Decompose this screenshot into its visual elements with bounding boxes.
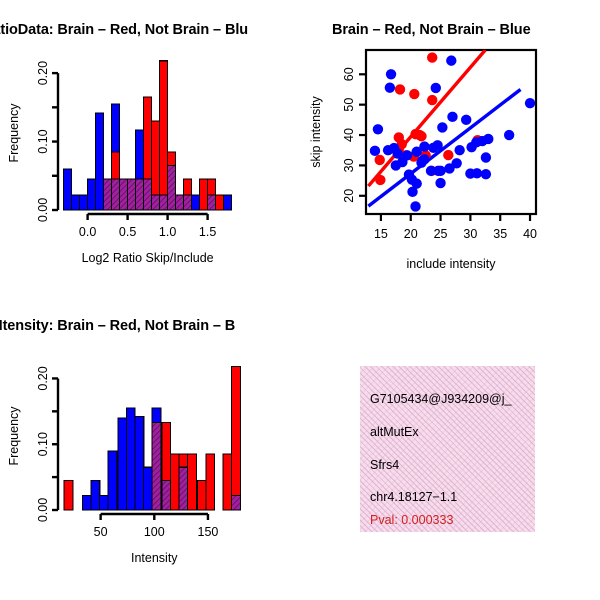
hist-bar-brain — [160, 61, 168, 210]
hist-bar-not-brain — [108, 451, 117, 510]
hist-bar-overlap — [120, 179, 128, 210]
scatter-point-not-brain — [432, 140, 442, 150]
y-axis-label: Frequency — [7, 103, 21, 163]
scatter-point-brain — [395, 84, 405, 94]
hist-bar-not-brain — [80, 195, 88, 210]
hist-bar-not-brain — [135, 417, 144, 510]
y-tick-label: 0.20 — [36, 61, 50, 85]
scatter-point-not-brain — [412, 147, 422, 157]
panel-hist-ratio: RatioData: Brain – Red, Not Brain – Blu … — [0, 0, 300, 300]
y-axis-label: skip intensity — [309, 95, 323, 167]
scatter-point-not-brain — [481, 152, 491, 162]
scatter-point-brain — [414, 130, 424, 140]
hist-bar-not-brain — [88, 179, 96, 210]
hist-bar-overlap — [176, 195, 184, 210]
info-line-pvalue: Pval: 0.000333 — [370, 513, 453, 527]
scatter-content — [368, 50, 535, 212]
hist-bar-overlap — [112, 179, 120, 210]
scatter-point-not-brain — [385, 82, 395, 92]
hist-bar-overlap — [160, 195, 168, 210]
hist-bars-group — [64, 367, 240, 510]
scatter-point-not-brain — [446, 55, 456, 65]
scatter-point-not-brain — [373, 124, 383, 134]
scatter-point-brain — [375, 155, 385, 165]
x-tick-label: 0.5 — [119, 225, 136, 239]
x-tick-label: 150 — [198, 525, 219, 539]
scatter-point-not-brain — [451, 158, 461, 168]
y-tick-label: 20 — [342, 189, 356, 203]
scatter-point-not-brain — [461, 115, 471, 125]
scatter-point-not-brain — [472, 168, 482, 178]
hist-bar-brain — [197, 480, 206, 510]
x-tick-label: 20 — [404, 227, 418, 241]
hist-bar-not-brain — [96, 113, 104, 210]
scatter-point-not-brain — [386, 69, 396, 79]
hist-bar-overlap — [152, 195, 160, 210]
hist-bar-overlap — [144, 179, 152, 210]
hist-bar-brain — [232, 367, 241, 510]
x-axis-label: Log2 Ratio Skip/Include — [82, 251, 214, 265]
hist-bar-not-brain — [126, 408, 135, 510]
y-tick-label: 0.00 — [36, 198, 50, 222]
scatter-point-not-brain — [370, 146, 380, 156]
x-tick-label: 15 — [374, 227, 388, 241]
hist-bar-brain — [216, 195, 224, 210]
hist-bars-group — [64, 61, 232, 210]
y-tick-label: 0.10 — [36, 432, 50, 456]
scatter-point-not-brain — [391, 160, 401, 170]
hist-bar-not-brain — [100, 496, 109, 510]
scatter-point-brain — [427, 95, 437, 105]
hist-bar-not-brain — [192, 195, 200, 210]
hist-bar-brain — [223, 454, 232, 510]
info-line-event-type: altMutEx — [370, 425, 419, 439]
x-tick-label: 0.0 — [79, 225, 96, 239]
x-tick-label: 30 — [463, 227, 477, 241]
hist-bar-overlap — [179, 467, 188, 510]
info-line-id: G7105434@J934209@j_ — [370, 392, 511, 406]
scatter-point-brain — [409, 89, 419, 99]
scatter-point-not-brain — [407, 187, 417, 197]
panel-scatter: Brain – Red, Not Brain – Blue 2030405060… — [300, 0, 600, 300]
x-tick-label: 35 — [493, 227, 507, 241]
hist-bar-not-brain — [224, 195, 232, 210]
hist-bar-not-brain — [118, 418, 127, 510]
y-tick-label: 40 — [342, 128, 356, 142]
hist-bar-not-brain — [72, 195, 80, 210]
x-tick-label: 50 — [94, 525, 108, 539]
y-tick-label: 0.20 — [36, 366, 50, 390]
info-line-locus: chr4.18127−1.1 — [370, 490, 457, 504]
hist-bar-overlap — [162, 480, 171, 510]
x-axis-label: include intensity — [407, 257, 497, 271]
hist-bar-not-brain — [144, 467, 153, 510]
x-tick-label: 1.0 — [159, 225, 176, 239]
x-tick-label: 100 — [144, 525, 165, 539]
scatter-point-not-brain — [437, 122, 447, 132]
scatter-point-not-brain — [435, 166, 445, 176]
hist-intensity-plot: 0.000.100.20Frequency50100150Intensity — [0, 324, 300, 599]
hist-bar-brain — [206, 454, 215, 510]
hist-bar-brain — [188, 454, 197, 510]
scatter-point-not-brain — [410, 201, 420, 211]
panel-hist-intensity: ne Itensity: Brain – Red, Not Brain – B … — [0, 300, 300, 600]
hist-bar-not-brain — [91, 480, 100, 510]
info-line-gene: Sfrs4 — [370, 458, 399, 472]
scatter-point-not-brain — [525, 98, 535, 108]
hist-bar-overlap — [152, 423, 161, 510]
gene-info-box: G7105434@J934209@j_ altMutEx Sfrs4 chr4.… — [360, 366, 535, 532]
scatter-point-not-brain — [483, 134, 493, 144]
scatter-point-not-brain — [481, 169, 491, 179]
scatter-plot: 2030405060skip intensity152025303540incl… — [300, 28, 600, 298]
hist-bar-brain — [170, 454, 179, 510]
hist-bar-not-brain — [82, 496, 91, 510]
x-axis-label: Intensity — [131, 551, 178, 565]
scatter-point-brain — [427, 52, 437, 62]
hist-bar-overlap — [136, 179, 144, 210]
scatter-point-brain — [443, 150, 453, 160]
hist-bar-overlap — [184, 195, 192, 210]
x-tick-label: 1.5 — [199, 225, 216, 239]
y-tick-label: 60 — [342, 67, 356, 81]
hist-bar-overlap — [232, 496, 241, 510]
y-tick-label: 0.10 — [36, 129, 50, 153]
y-tick-label: 50 — [342, 98, 356, 112]
scatter-point-not-brain — [431, 83, 441, 93]
y-axis-label: Frequency — [7, 406, 21, 466]
hist-bar-overlap — [208, 195, 216, 210]
scatter-point-not-brain — [454, 145, 464, 155]
scatter-point-not-brain — [419, 154, 429, 164]
y-tick-label: 30 — [342, 158, 356, 172]
scatter-point-brain — [375, 175, 385, 185]
x-tick-label: 40 — [523, 227, 537, 241]
hist-bar-overlap — [128, 179, 136, 210]
y-tick-label: 0.00 — [36, 498, 50, 522]
hist-bar-overlap — [168, 166, 176, 210]
scatter-point-not-brain — [435, 178, 445, 188]
hist-bar-brain — [200, 179, 208, 210]
hist-bar-not-brain — [64, 169, 72, 210]
scatter-point-not-brain — [447, 112, 457, 122]
hist-bar-overlap — [104, 179, 112, 210]
hist-bar-brain — [64, 480, 73, 510]
scatter-point-not-brain — [504, 130, 514, 140]
x-tick-label: 25 — [434, 227, 448, 241]
hist-ratio-plot: 0.000.100.20Frequency0.00.51.01.5Log2 Ra… — [0, 28, 300, 298]
